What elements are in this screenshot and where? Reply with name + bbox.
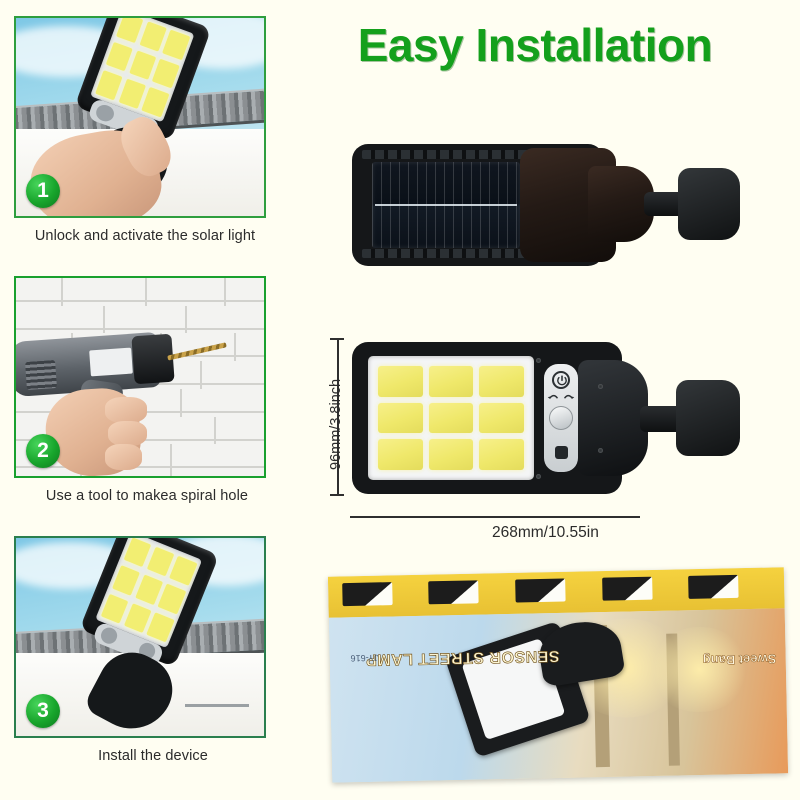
led-chip [162,30,189,60]
product-front-view [352,342,782,494]
dimension-width-label: 268mm/10.55in [492,524,599,542]
housing-screw [536,358,541,363]
product-top-view [352,140,782,270]
drill-vents [25,360,57,390]
led-chip [94,70,121,100]
led-chip [118,79,145,109]
led-chip [170,556,198,586]
step-2-caption: Use a tool to makea spiral hole [14,488,276,504]
retail-package-photo: SENSOR STREET LAMP JY-616 Sweet Bang [328,567,788,783]
step-3-caption: Install the device [14,748,276,764]
solar-cell-seam [375,204,517,206]
led-chip [124,537,152,567]
led-chip [429,366,474,397]
led-chip [158,584,186,614]
step-3-photo: 3 [14,536,266,738]
housing-screw [536,474,541,479]
power-icon[interactable] [552,371,570,389]
mode-switch[interactable] [555,446,568,459]
led-chip [479,403,524,434]
step-card-2: 2 Use a tool to makea spiral hole [14,276,282,504]
led-chip [147,547,175,577]
pir-sensor-dome [549,406,573,430]
led-chip [378,403,423,434]
step-1-photo: 1 [14,16,266,218]
led-chip [479,439,524,470]
step-number-badge: 1 [26,174,60,208]
step-1-caption: Unlock and activate the solar light [14,228,276,244]
package-model-code: JY-616 [350,653,378,664]
led-chip [147,612,175,642]
bracket-screw [598,448,603,453]
led-chip [115,16,142,43]
step-card-1: 1 Unlock and activate the solar light [14,16,282,244]
led-chip [135,575,163,605]
package-front-face: SENSOR STREET LAMP JY-616 Sweet Bang [329,608,788,782]
bracket-head [676,380,740,456]
led-chip [128,50,155,80]
solar-panel [372,162,520,248]
bracket-head [678,168,740,240]
drill-label [90,348,134,377]
finger [105,397,147,423]
led-chip [139,22,166,52]
infographic-page: Easy Installation [0,0,800,800]
led-chip [429,403,474,434]
dimension-tick-top [330,338,344,340]
bracket-neck [578,360,648,476]
led-chip [479,366,524,397]
control-panel [544,364,578,472]
finger [105,444,142,470]
finger [108,421,148,447]
dimension-tick-bottom [330,494,344,496]
led-chip [141,87,168,117]
led-chip [105,42,132,72]
mounting-screw [185,704,249,707]
led-chip [112,565,140,595]
step-2-photo: 2 [14,276,266,478]
led-chip [429,439,474,470]
page-title: Easy Installation [300,18,770,72]
dimension-line-horizontal [350,516,640,518]
dimension-height-label: 96mm/3.8inch [328,379,344,470]
led-chip [378,439,423,470]
led-chip [378,366,423,397]
mode-arrows-icon [546,391,576,402]
led-chip [124,603,152,633]
step-card-3: 3 Install the device [14,536,282,764]
step-number-badge: 3 [26,694,60,728]
package-box: SENSOR STREET LAMP JY-616 Sweet Bang [328,567,788,783]
bracket-screw [598,384,603,389]
package-brand: Sweet Bang [703,651,777,668]
led-chip [152,59,179,89]
led-grid [378,366,524,470]
led-diffuser-face [368,356,534,480]
led-chip [101,594,129,624]
step-number-badge: 2 [26,434,60,468]
